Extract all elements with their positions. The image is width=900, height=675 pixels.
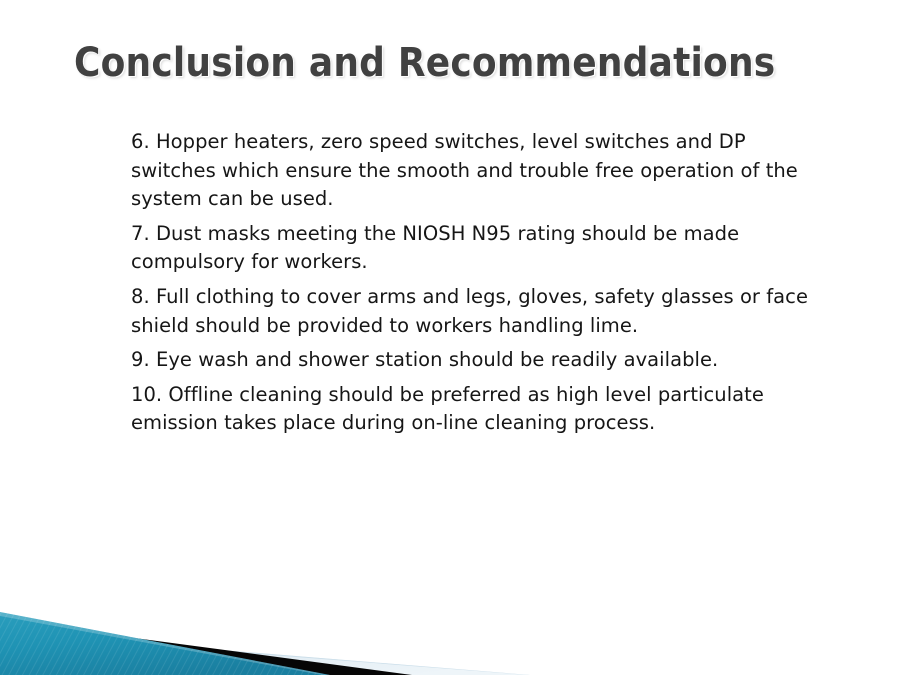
teal-band-shape [0, 612, 330, 675]
list-item: 7. Dust masks meeting the NIOSH N95 rati… [131, 220, 825, 277]
light-band-edge [0, 632, 530, 675]
light-band-shape [0, 632, 530, 675]
list-item: 6. Hopper heaters, zero speed switches, … [131, 128, 825, 214]
teal-band-texture [0, 612, 330, 675]
decorative-shape-svg [0, 550, 560, 675]
black-band-shape [0, 620, 412, 675]
list-item: 8. Full clothing to cover arms and legs,… [131, 283, 825, 340]
list-item: 9. Eye wash and shower station should be… [131, 346, 825, 375]
page-title: Conclusion and Recommendations [74, 40, 834, 86]
body-content: 6. Hopper heaters, zero speed switches, … [131, 128, 825, 438]
teal-band-highlight [0, 612, 330, 675]
slide-canvas: Conclusion and Recommendations 6. Hopper… [0, 0, 900, 675]
list-item: 10. Offline cleaning should be preferred… [131, 381, 825, 438]
decorative-diagonal-bands-graphic [0, 550, 560, 675]
